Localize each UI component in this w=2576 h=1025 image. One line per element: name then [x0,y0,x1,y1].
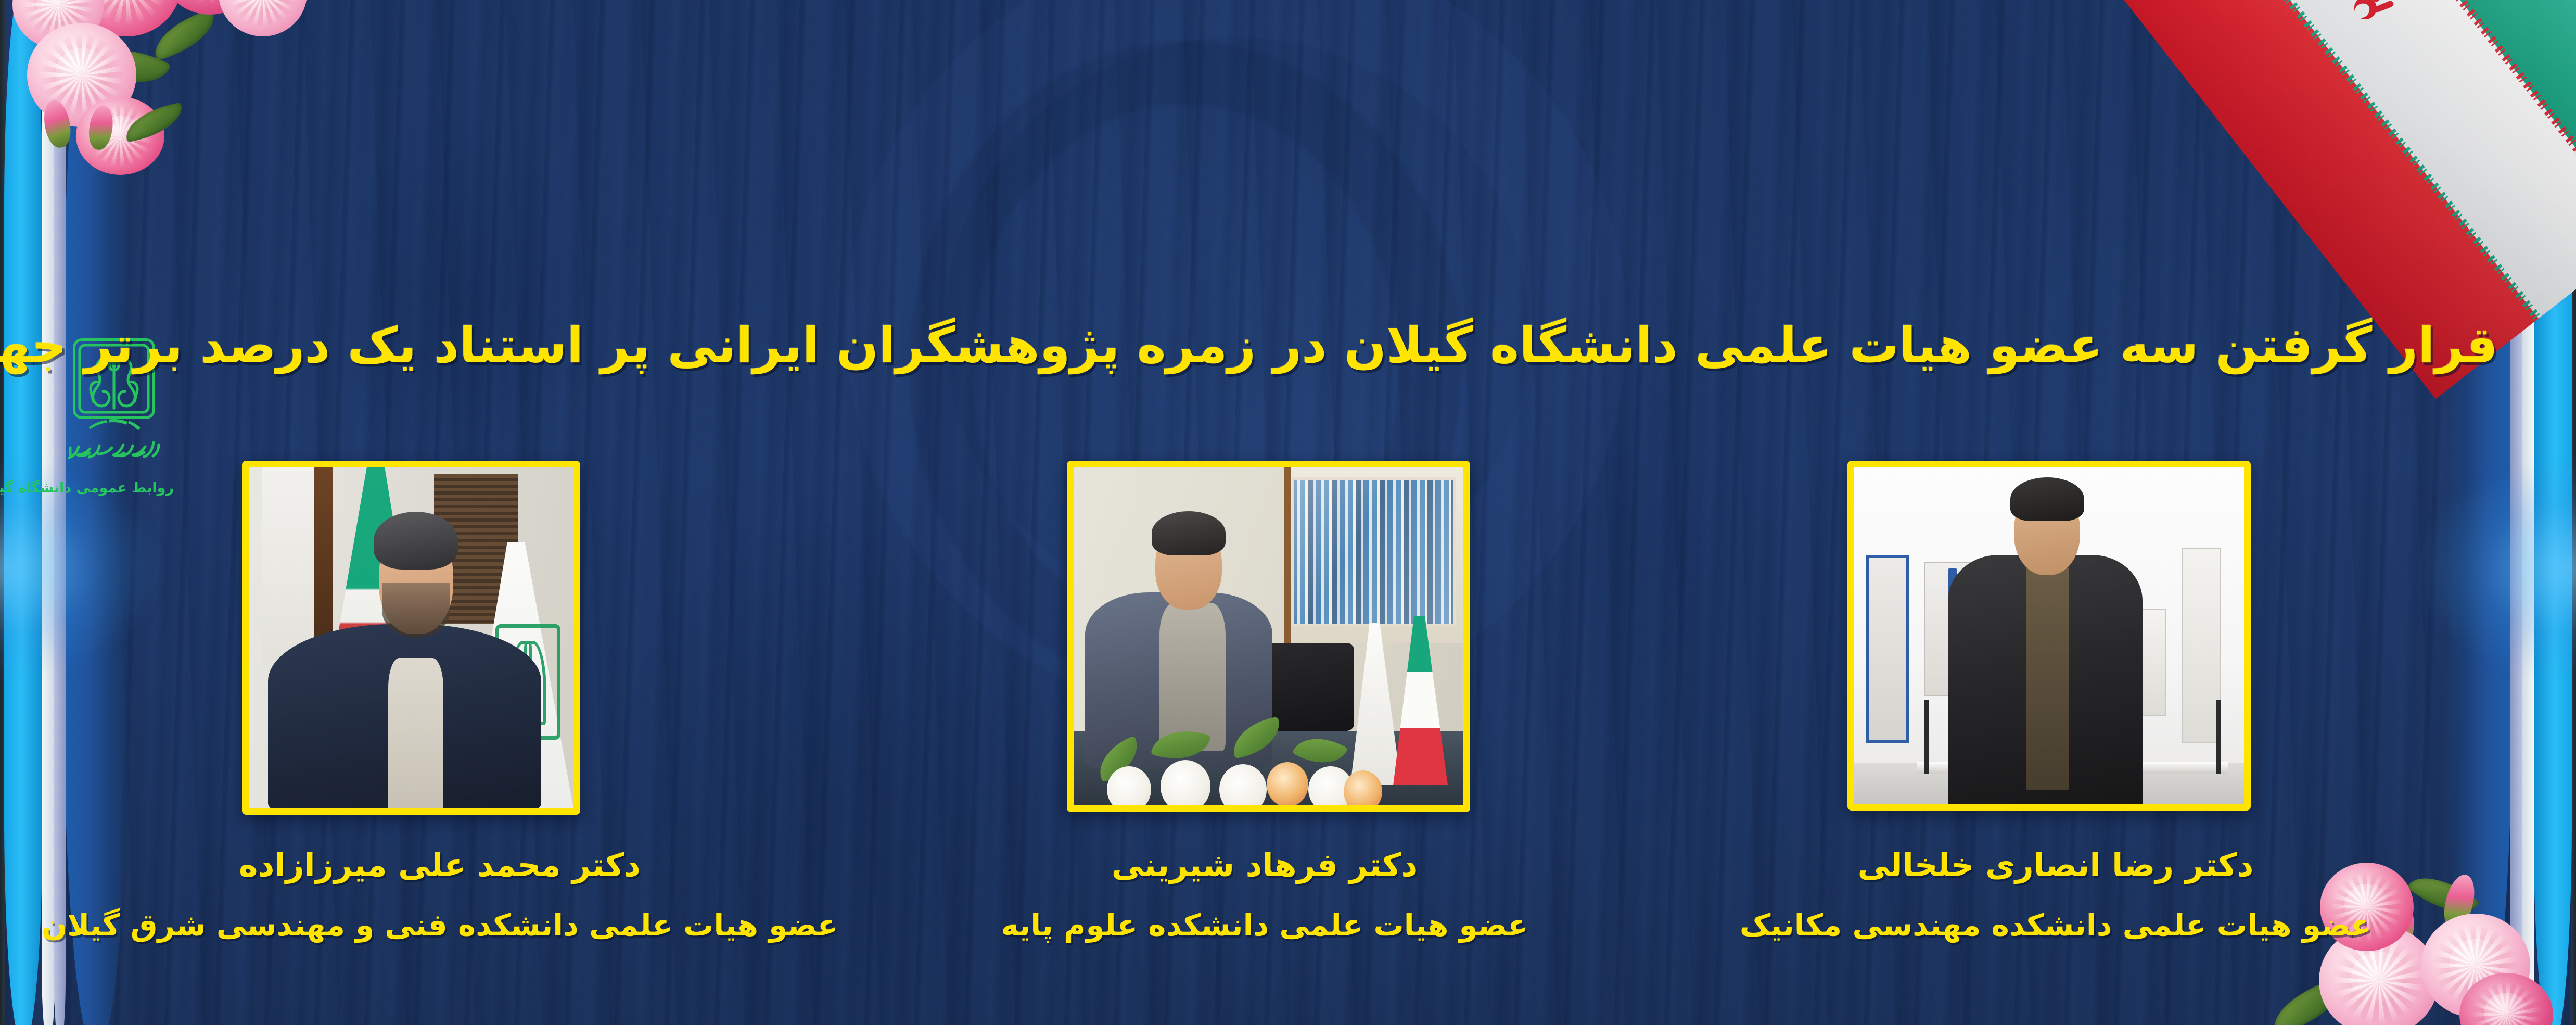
person-role-2: عضو هیات علمی دانشکده علوم پایه [900,909,1629,942]
photo-frame-1 [242,461,580,815]
person-name-3: دکتر رضا انصاری خلخالی [1650,847,2462,883]
banner-root: روابط عمومی دانشگاه گیلان قرار گرفتن سه … [0,0,2576,1025]
person-role-1: عضو هیات علمی دانشکده فنی و مهندسی شرق گ… [0,909,879,942]
person-photo-3 [1854,467,2244,804]
caption-person-1: دکتر محمد علی میرزازاده عضو هیات علمی دا… [0,847,879,942]
person-name-2: دکتر فرهاد شیرینی [900,847,1629,883]
caption-person-2: دکتر فرهاد شیرینی عضو هیات علمی دانشکده … [900,847,1629,942]
caption-person-3: دکتر رضا انصاری خلخالی عضو هیات علمی دان… [1650,847,2462,942]
banner-title: قرار گرفتن سه عضو هیات علمی دانشگاه گیلا… [0,317,2576,375]
person-card-3 [1847,461,2251,811]
person-name-1: دکتر محمد علی میرزازاده [0,847,879,883]
flower-bouquet [1089,717,1385,805]
photo-frame-2 [1067,461,1470,812]
person-role-3: عضو هیات علمی دانشکده مهندسی مکانیک [1650,909,2462,942]
photo-frame-3 [1847,461,2251,811]
person-photo-1 [249,467,573,808]
person-photo-2 [1074,467,1463,805]
person-card-1 [242,461,580,815]
photo-row [0,461,2576,820]
person-card-2 [1067,461,1470,812]
